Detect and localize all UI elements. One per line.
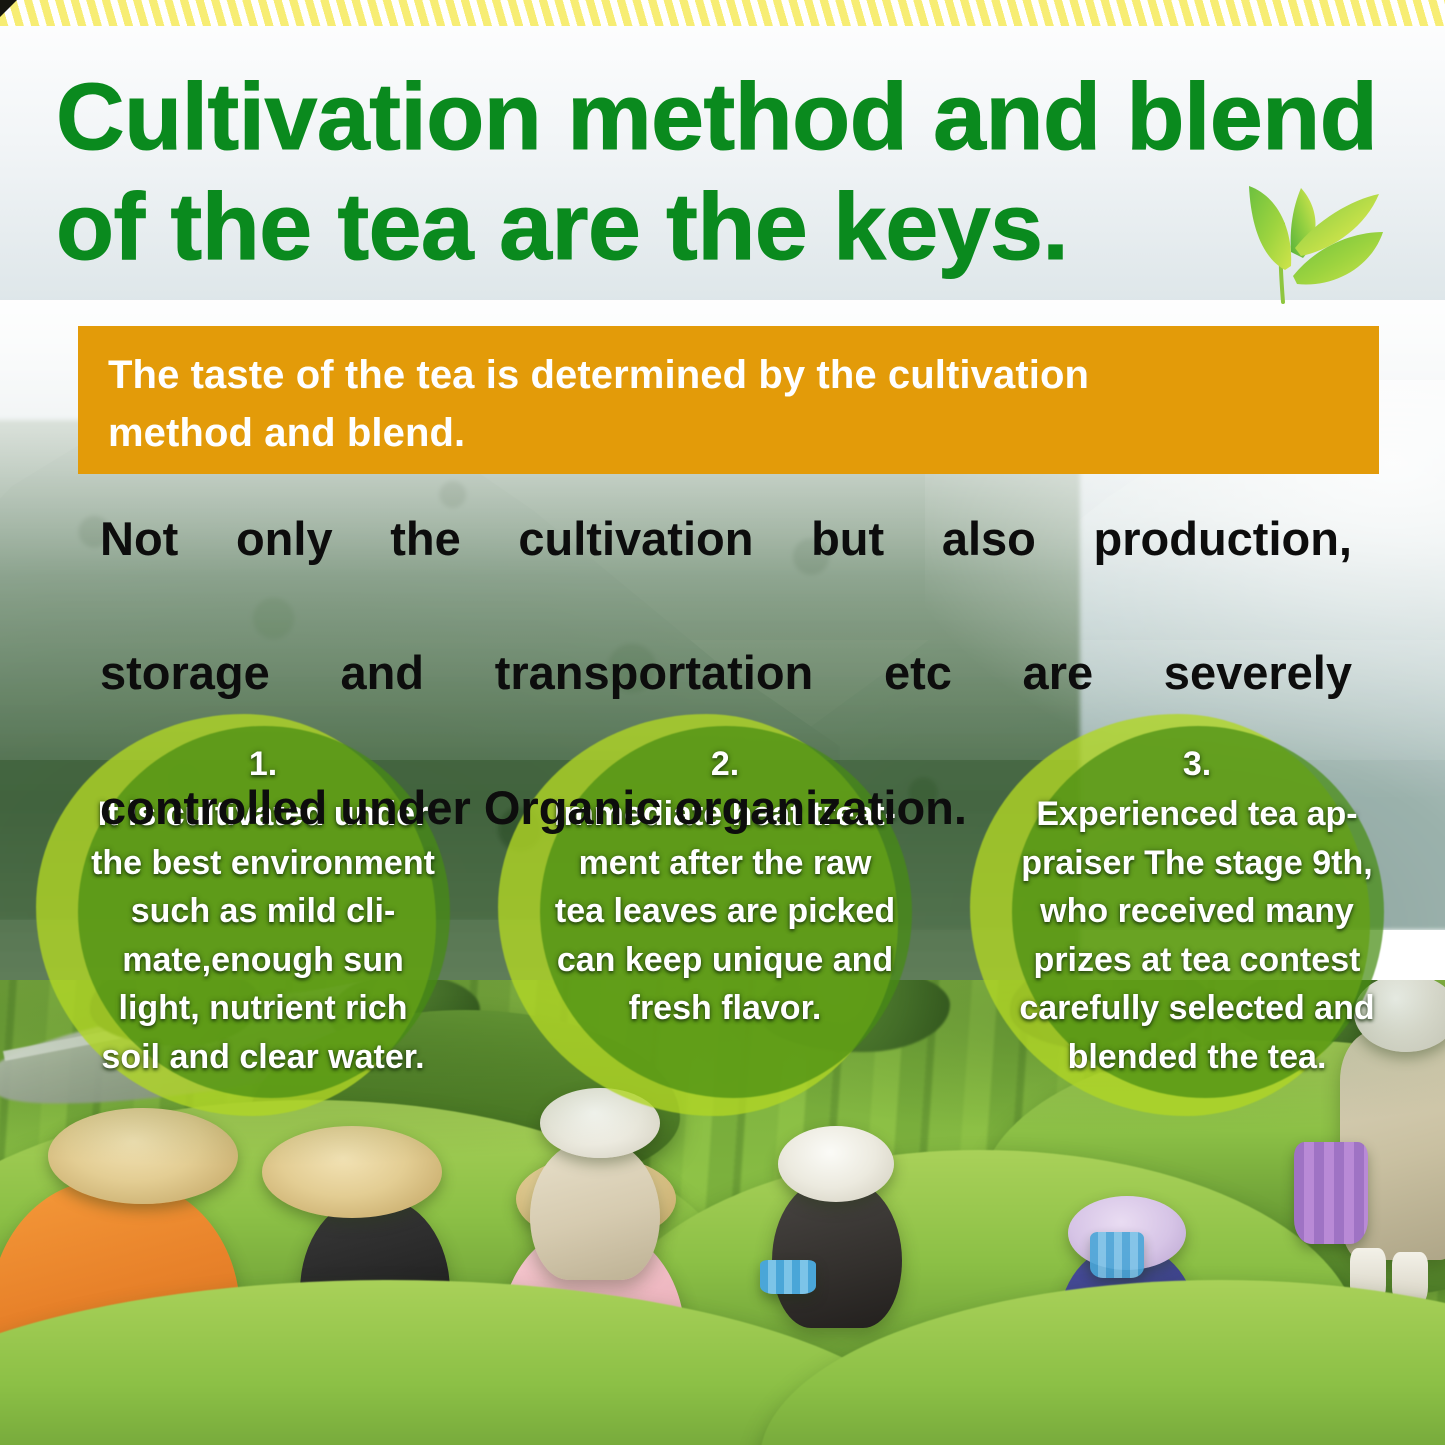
banner-line-1: The taste of the tea is determined by th… xyxy=(108,346,1349,404)
corner-notch-mark xyxy=(0,0,17,17)
point-line: praiser The stage 9th, xyxy=(962,839,1432,888)
point-line: mate,enough sun xyxy=(28,936,498,985)
top-stripe-band xyxy=(0,0,1445,26)
point-line: can keep unique and xyxy=(490,936,960,985)
point-line: the best environment xyxy=(28,839,498,888)
point-line: blended the tea. xyxy=(962,1033,1432,1082)
headline-line-1: Cultivation method and blend xyxy=(56,62,1256,172)
point-line: carefully selected and xyxy=(962,984,1432,1033)
paragraph-line: controlled under Organic organization. xyxy=(100,774,1352,841)
point-line: such as mild cli- xyxy=(28,887,498,936)
point-line: soil and clear water. xyxy=(28,1033,498,1082)
tea-leaf-icon xyxy=(1243,166,1408,316)
point-line: prizes at tea contest xyxy=(962,936,1432,985)
orange-highlight-banner: The taste of the tea is determined by th… xyxy=(78,326,1379,474)
body-paragraph: Not only the cultivation but also produc… xyxy=(100,505,1352,841)
point-line: light, nutrient rich xyxy=(28,984,498,1033)
point-line: who received many xyxy=(962,887,1432,936)
point-line: fresh flavor. xyxy=(490,984,960,1033)
paragraph-line: storage and transportation etc are sever… xyxy=(100,639,1352,773)
headline-line-2: of the tea are the keys. xyxy=(56,172,1256,282)
banner-line-2: method and blend. xyxy=(108,404,1349,462)
point-line: ment after the raw xyxy=(490,839,960,888)
page-title: Cultivation method and blend of the tea … xyxy=(56,62,1256,282)
paragraph-line: Not only the cultivation but also produc… xyxy=(100,505,1352,639)
tea-poster: 1. It is cultivated under the best envir… xyxy=(0,0,1445,1445)
point-line: tea leaves are picked xyxy=(490,887,960,936)
